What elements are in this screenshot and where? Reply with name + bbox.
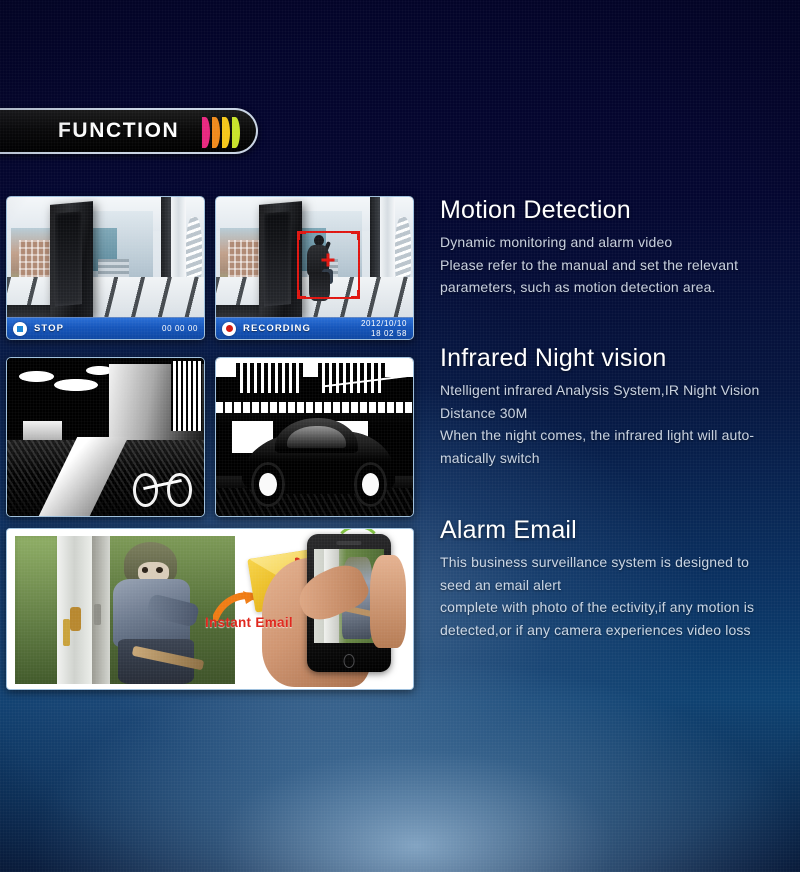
panel-motion-recording[interactable]: RECORDING 2012/10/10 18 02 58 [215, 196, 414, 340]
stripe-4 [232, 117, 240, 148]
feature-block-motion-detection: Motion Detection Dynamic monitoring and … [440, 196, 792, 299]
banner-stripes-icon [202, 117, 240, 148]
status-bar-stop: STOP 00 00 00 [7, 317, 204, 339]
instant-email-caption: Instant Email [205, 615, 293, 630]
panel-motion-stop[interactable]: STOP 00 00 00 [6, 196, 205, 340]
stripe-2 [212, 117, 220, 148]
record-icon [222, 322, 236, 336]
feature-block-alarm-email: Alarm Email This business surveillance s… [440, 516, 792, 642]
status-bar-recording: RECORDING 2012/10/10 18 02 58 [216, 317, 413, 339]
stripe-3 [222, 117, 230, 148]
panel-alarm-email[interactable]: Instant Email [6, 528, 414, 690]
alarm-email-scene: Instant Email [7, 529, 413, 689]
promo-page: FUNCTION STOP 00 0 [0, 0, 800, 872]
function-banner-label: FUNCTION [58, 119, 179, 143]
feature-title: Alarm Email [440, 516, 792, 545]
recording-timer: 00 00 00 [162, 324, 198, 334]
feature-block-infrared-night-vision: Infrared Night vision Ntelligent infrare… [440, 344, 792, 470]
hand-holding-phone [259, 537, 409, 687]
night-street-scene [7, 358, 204, 516]
recording-timestamp: 2012/10/10 18 02 58 [361, 319, 407, 339]
feature-title: Infrared Night vision [440, 344, 792, 373]
feature-title: Motion Detection [440, 196, 792, 225]
status-label: STOP [34, 323, 64, 334]
function-banner: FUNCTION [0, 108, 258, 154]
feature-description: Dynamic monitoring and alarm video Pleas… [440, 231, 792, 299]
timestamp-time: 18 02 58 [361, 329, 407, 339]
stop-icon [13, 322, 27, 336]
night-car-scene [216, 358, 413, 516]
motion-tracking-box-icon [297, 231, 360, 299]
panel-night-vision-car[interactable] [215, 357, 414, 517]
stripe-1 [202, 117, 210, 148]
burglar-photo [15, 536, 235, 684]
home-button-icon [344, 654, 355, 668]
feature-description: This business surveillance system is des… [440, 551, 792, 642]
bicycle [133, 459, 192, 506]
feature-description: Ntelligent infrared Analysis System,IR N… [440, 379, 792, 470]
timestamp-date: 2012/10/10 [361, 319, 407, 329]
status-label: RECORDING [243, 323, 311, 334]
burglar-figure [103, 542, 200, 684]
panel-night-vision-street[interactable] [6, 357, 205, 517]
